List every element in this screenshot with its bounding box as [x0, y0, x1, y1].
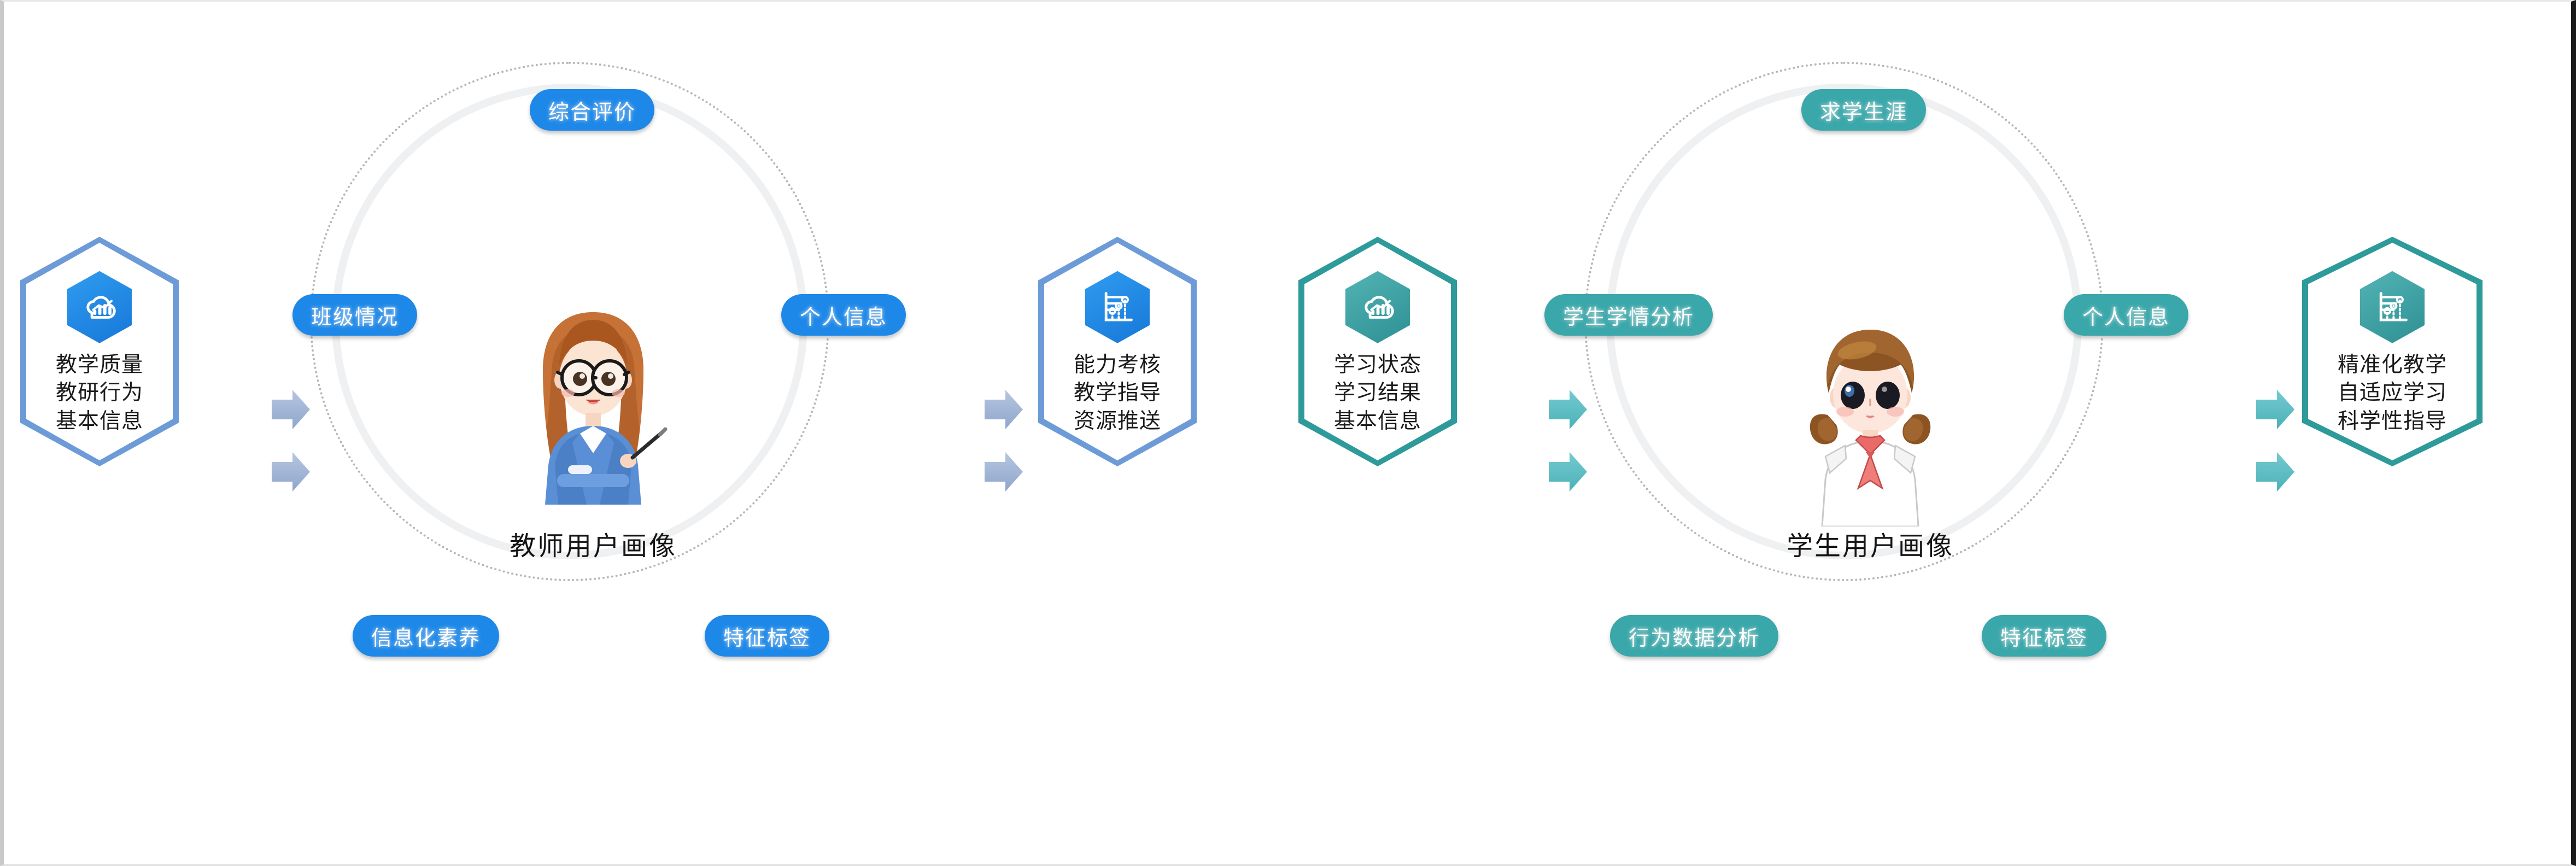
input-line: 教研行为	[56, 379, 143, 407]
teacher-pill-bottom-right[interactable]: 特征标签	[705, 615, 829, 657]
input-line: 学习结果	[1334, 379, 1421, 407]
output-line: 自适应学习	[2338, 379, 2447, 407]
output-line: 科学性指导	[2338, 407, 2447, 435]
student-section: 学习状态 学习结果 基本信息 求学生涯 学生学情分析 个人信息 行为数据分析 特…	[1292, 2, 2571, 864]
teacher-input-card: 教学质量 教研行为 基本信息	[20, 237, 179, 466]
teacher-output-lines: 能力考核 教学指导 资源推送	[1074, 351, 1161, 435]
teacher-persona-caption: 教师用户画像	[510, 524, 677, 563]
teacher-pill-right[interactable]: 个人信息	[781, 294, 906, 336]
teacher-section: 教学质量 教研行为 基本信息 综合评价 班级情况 个人信息 信息化素养 特征标签	[4, 2, 1292, 864]
student-pill-bottom-left[interactable]: 行为数据分析	[1610, 615, 1778, 657]
student-pill-bottom-right[interactable]: 特征标签	[1982, 615, 2106, 657]
output-line: 能力考核	[1074, 351, 1161, 379]
teacher-pill-top[interactable]: 综合评价	[530, 89, 654, 131]
double-arrow-right-icon	[2255, 384, 2296, 435]
student-inbound-arrows	[1548, 384, 1588, 497]
student-outbound-arrows	[2255, 384, 2296, 497]
cloud-bar-chart-icon	[67, 271, 132, 343]
teacher-pill-bottom-left[interactable]: 信息化素养	[353, 615, 499, 657]
input-line: 教学质量	[56, 351, 143, 379]
student-pill-top[interactable]: 求学生涯	[1801, 89, 1926, 131]
student-input-card: 学习状态 学习结果 基本信息	[1298, 237, 1457, 466]
double-arrow-right-icon	[983, 384, 1024, 435]
bar-chart-dots-icon	[2360, 271, 2425, 343]
teacher-input-lines: 教学质量 教研行为 基本信息	[56, 351, 143, 435]
cloud-bar-chart-icon	[1345, 271, 1410, 343]
teacher-persona: 教师用户画像	[478, 297, 708, 563]
output-line: 精准化教学	[2338, 351, 2447, 379]
bar-chart-dots-icon	[1085, 271, 1150, 343]
teacher-output-card: 能力考核 教学指导 资源推送	[1038, 237, 1197, 466]
student-pill-right[interactable]: 个人信息	[2064, 294, 2188, 336]
input-line: 基本信息	[56, 407, 143, 435]
double-arrow-right-icon	[1548, 447, 1588, 497]
double-arrow-right-icon	[1548, 384, 1588, 435]
student-persona: 学生用户画像	[1755, 308, 1985, 563]
input-line: 基本信息	[1334, 407, 1421, 435]
double-arrow-right-icon	[271, 447, 311, 497]
double-arrow-right-icon	[983, 447, 1024, 497]
diagram-canvas: 教学质量 教研行为 基本信息 综合评价 班级情况 个人信息 信息化素养 特征标签	[0, 0, 2576, 866]
student-input-lines: 学习状态 学习结果 基本信息	[1334, 351, 1421, 435]
student-output-lines: 精准化教学 自适应学习 科学性指导	[2338, 351, 2447, 435]
input-line: 学习状态	[1334, 351, 1421, 379]
student-avatar	[1788, 308, 1952, 526]
output-line: 教学指导	[1074, 379, 1161, 407]
double-arrow-right-icon	[271, 384, 311, 435]
teacher-avatar	[511, 297, 675, 526]
teacher-outbound-arrows	[983, 384, 1024, 497]
student-pill-left[interactable]: 学生学情分析	[1544, 294, 1713, 336]
student-output-card: 精准化教学 自适应学习 科学性指导	[2302, 237, 2483, 466]
student-persona-caption: 学生用户画像	[1787, 524, 1954, 563]
teacher-pill-left[interactable]: 班级情况	[292, 294, 417, 336]
double-arrow-right-icon	[2255, 447, 2296, 497]
teacher-inbound-arrows	[271, 384, 311, 497]
output-line: 资源推送	[1074, 407, 1161, 435]
